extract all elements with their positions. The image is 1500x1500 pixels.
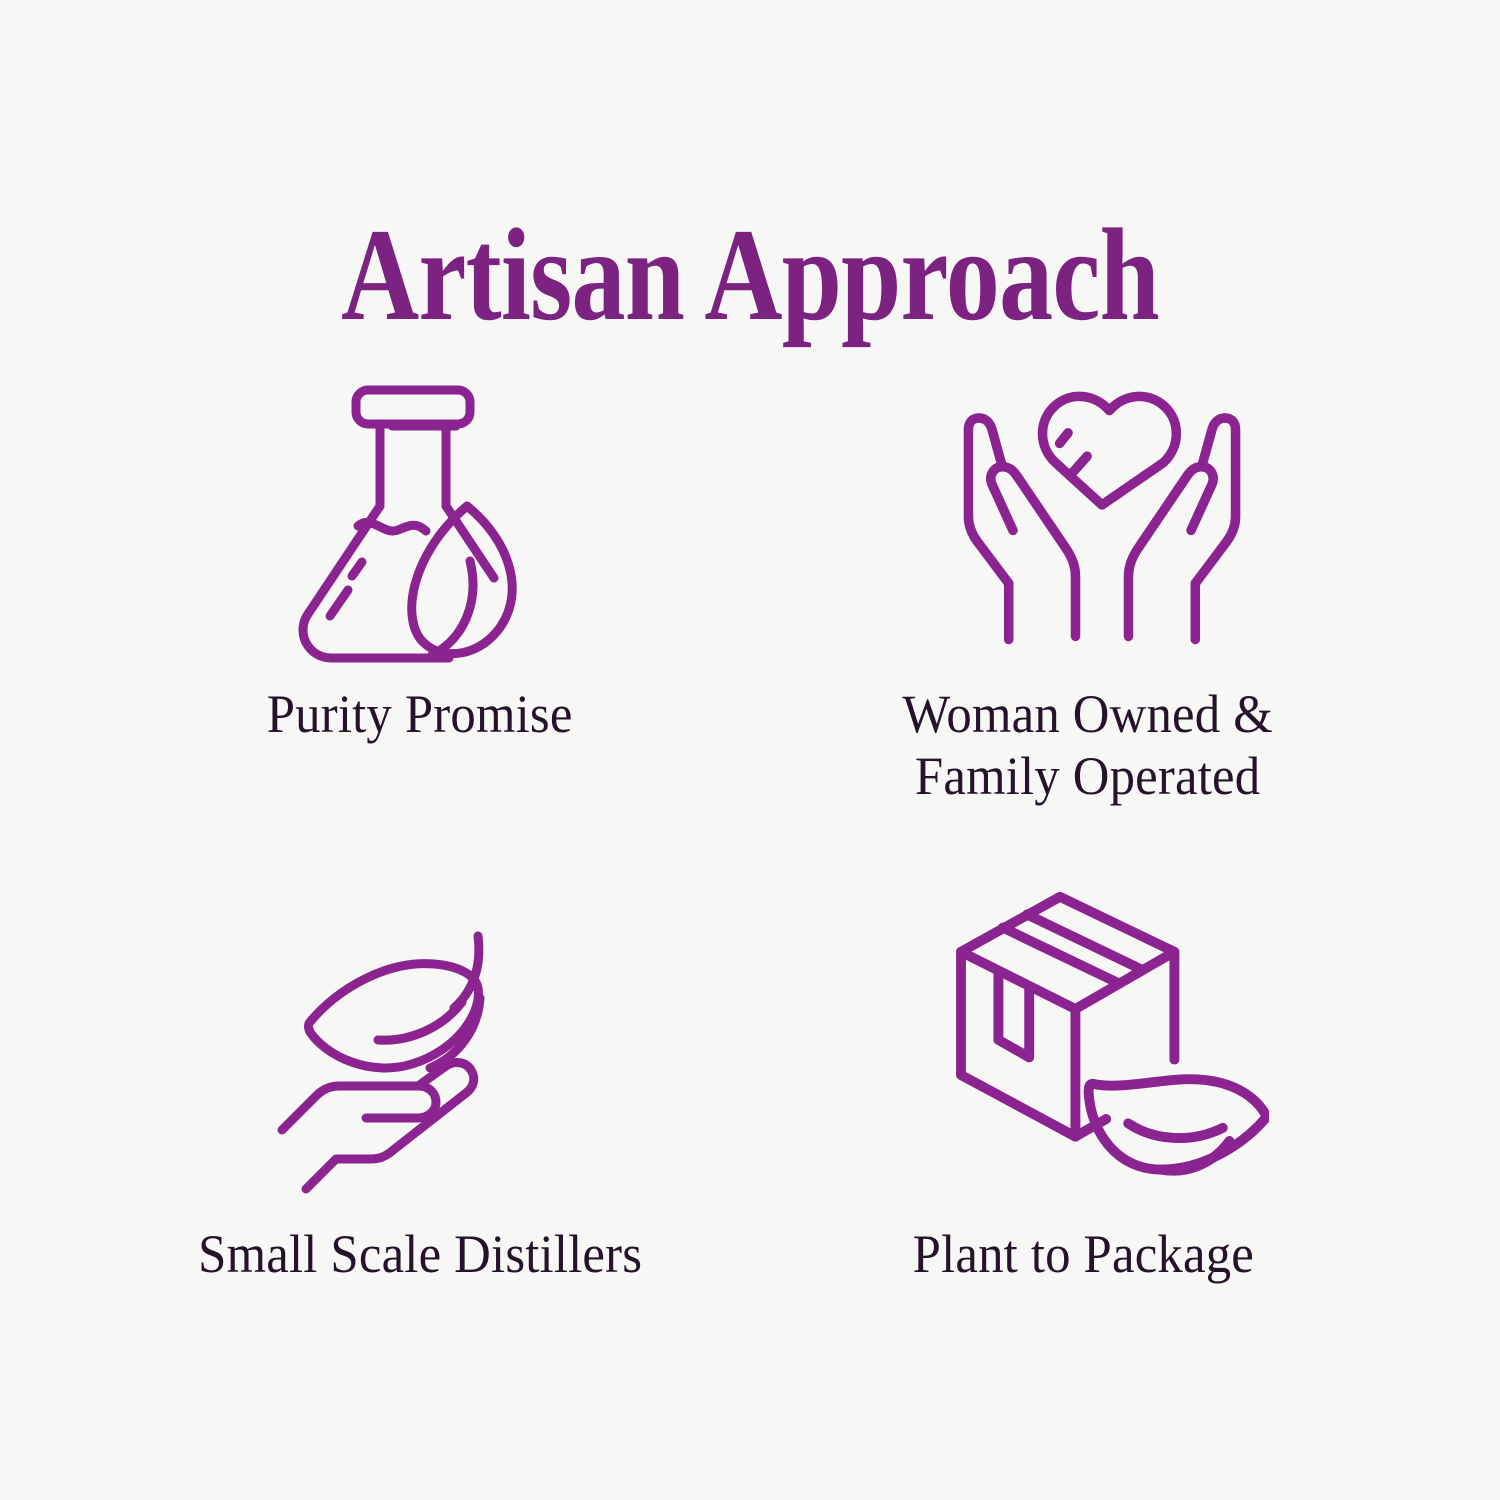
flask-leaf-icon (282, 366, 582, 666)
feature-label: Small Scale Distillers (198, 1224, 642, 1286)
box-leaf-icon (939, 877, 1269, 1207)
feature-item-small-scale-distillers: Small Scale Distillers (90, 870, 750, 1380)
hands-heart-icon (943, 365, 1261, 683)
feature-label: Purity Promise (267, 684, 573, 746)
feature-item-plant-to-package: Plant to Package (750, 870, 1410, 1380)
feature-grid: Purity Promise (90, 360, 1410, 1380)
artisan-approach-panel: Artisan Approach (0, 0, 1500, 1500)
page-title: Artisan Approach (135, 206, 1365, 345)
feature-label: Woman Owned & Family Operated (902, 684, 1273, 807)
hand-leaf-icon (266, 898, 566, 1198)
feature-item-woman-owned: Woman Owned & Family Operated (750, 360, 1410, 870)
feature-label: Plant to Package (913, 1224, 1254, 1286)
feature-item-purity-promise: Purity Promise (90, 360, 750, 870)
